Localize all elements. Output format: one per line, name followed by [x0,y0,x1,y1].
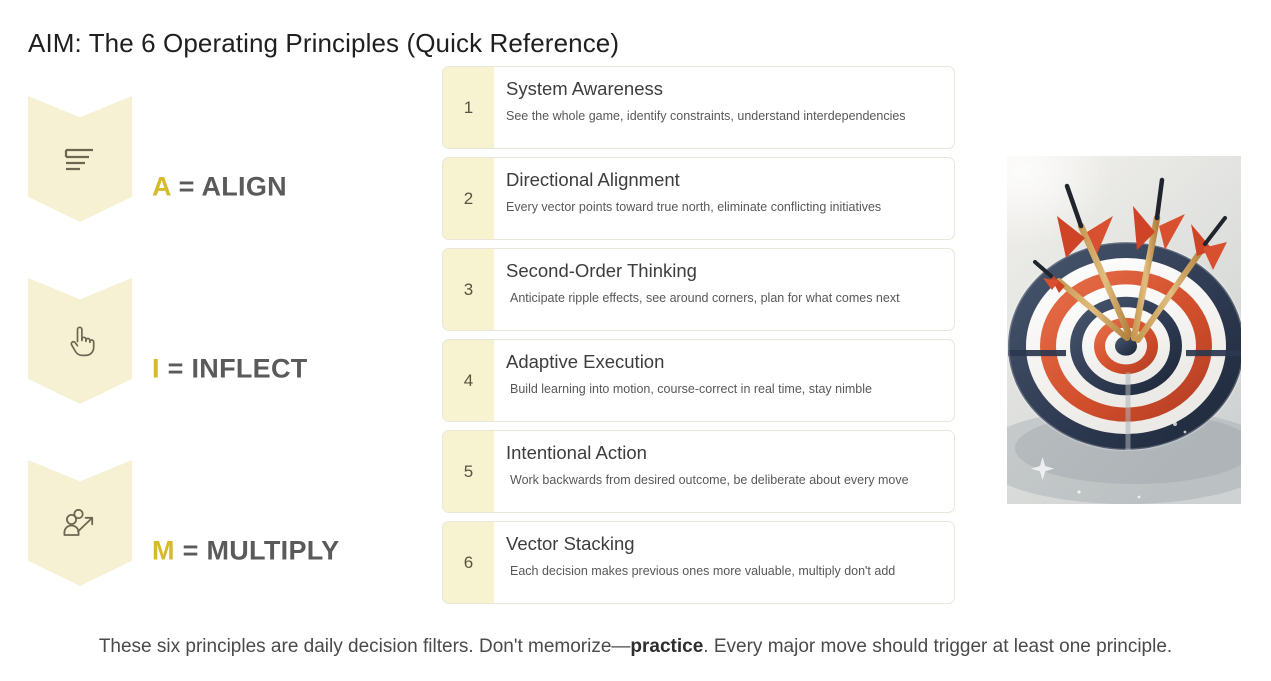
aim-equals-m: = [175,536,207,566]
principle-description: Work backwards from desired outcome, be … [506,473,954,488]
aim-equals-a: = [171,172,202,202]
aim-label-align: A = ALIGN [152,172,287,203]
principle-card[interactable]: 3 Second-Order Thinking Anticipate rippl… [442,248,955,331]
principle-card[interactable]: 2 Directional Alignment Every vector poi… [442,157,955,240]
principle-body: Second-Order Thinking Anticipate ripple … [494,249,954,330]
aim-label-inflect: I = INFLECT [152,354,308,385]
principle-title: Second-Order Thinking [506,260,954,282]
user-growth-icon [62,506,98,545]
aim-label-multiply: M = MULTIPLY [152,536,339,567]
page-title: AIM: The 6 Operating Principles (Quick R… [28,28,619,59]
principle-title: Vector Stacking [506,533,954,555]
principle-title: Directional Alignment [506,169,954,191]
aim-legend: A = ALIGN I = INFLECT [28,96,418,642]
principle-body: Adaptive Execution Build learning into m… [494,340,954,421]
principle-title: Adaptive Execution [506,351,954,373]
principle-body: Vector Stacking Each decision makes prev… [494,522,954,603]
aim-letter-m: M [152,536,175,566]
principle-number: 3 [443,249,494,330]
aim-badge-align [28,96,132,222]
aim-letter-a: A [152,172,171,202]
principle-number: 2 [443,158,494,239]
principle-number: 6 [443,522,494,603]
principle-description: Each decision makes previous ones more v… [506,564,954,579]
aim-item-align: A = ALIGN [28,96,418,278]
footer-note: These six principles are daily decision … [14,636,1257,658]
principle-body: Intentional Action Work backwards from d… [494,431,954,512]
principle-card[interactable]: 1 System Awareness See the whole game, i… [442,66,955,149]
aim-item-inflect: I = INFLECT [28,278,418,460]
aim-item-multiply: M = MULTIPLY [28,460,418,642]
principles-list: 1 System Awareness See the whole game, i… [442,66,955,612]
principle-number: 4 [443,340,494,421]
aim-word-multiply: MULTIPLY [206,536,339,566]
aim-badge-multiply [28,460,132,586]
principle-description: See the whole game, identify constraints… [506,109,954,124]
principle-card[interactable]: 6 Vector Stacking Each decision makes pr… [442,521,955,604]
aim-letter-i: I [152,354,160,384]
principle-card[interactable]: 4 Adaptive Execution Build learning into… [442,339,955,422]
footer-lead: These six principles are daily decision … [99,636,631,657]
principle-body: Directional Alignment Every vector point… [494,158,954,239]
aim-word-inflect: INFLECT [191,354,307,384]
pointing-hand-icon [65,324,95,363]
align-left-icon [63,144,97,179]
principle-body: System Awareness See the whole game, ide… [494,67,954,148]
principle-title: System Awareness [506,78,954,100]
archery-target-image [1007,156,1241,504]
principle-description: Anticipate ripple effects, see around co… [506,291,954,306]
footer-emphasis: practice [630,636,703,657]
principle-number: 1 [443,67,494,148]
principle-number: 5 [443,431,494,512]
aim-word-align: ALIGN [201,172,287,202]
principle-description: Build learning into motion, course-corre… [506,382,954,397]
principle-description: Every vector points toward true north, e… [506,200,954,215]
aim-equals-i: = [160,354,192,384]
aim-badge-inflect [28,278,132,404]
footer-tail: . Every major move should trigger at lea… [703,636,1172,657]
principle-title: Intentional Action [506,442,954,464]
principle-card[interactable]: 5 Intentional Action Work backwards from… [442,430,955,513]
